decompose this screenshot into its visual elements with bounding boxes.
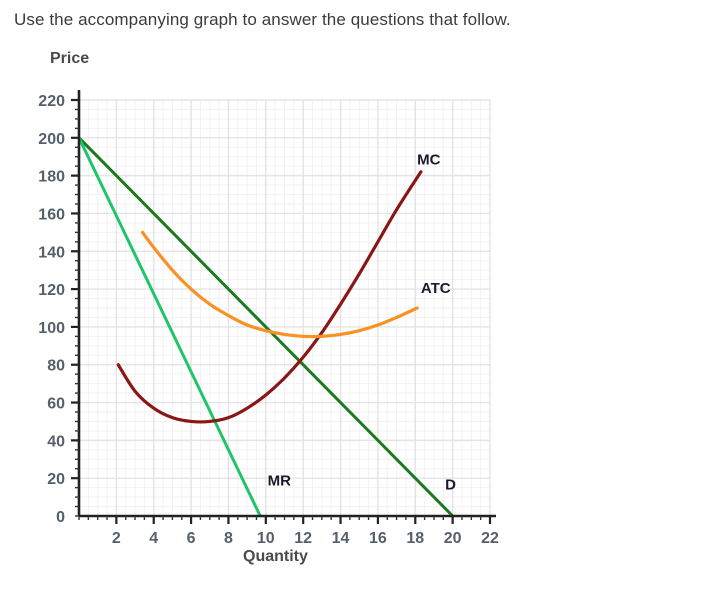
x-tick-label: 22 [481, 530, 499, 547]
y-tick-label: 80 [47, 358, 65, 375]
x-tick-label: 8 [224, 530, 233, 547]
plot-area: 2468101214161820220204060801001201401601… [0, 38, 724, 558]
y-tick-label: 180 [38, 169, 65, 186]
series-label-mr: MR [268, 473, 291, 490]
y-tick-label: 40 [47, 433, 65, 450]
economics-graph-figure: Price 2468101214161820220204060801001201… [0, 38, 724, 601]
x-tick-label: 20 [444, 530, 462, 547]
x-tick-label: 4 [149, 530, 158, 547]
x-axis-title: Quantity [243, 548, 308, 566]
y-tick-label: 60 [47, 396, 65, 413]
x-tick-label: 14 [332, 530, 350, 547]
x-tick-label: 18 [406, 530, 424, 547]
y-tick-label: 160 [38, 206, 65, 223]
series-mc-curve [118, 172, 421, 422]
series-labels: DMRMCATC [268, 151, 456, 493]
y-tick-label: 100 [38, 320, 65, 337]
y-tick-label: 200 [38, 131, 65, 148]
x-tick-label: 6 [187, 530, 196, 547]
series-label-d: D [445, 477, 456, 494]
y-tick-label: 0 [56, 509, 65, 526]
x-tick-label: 10 [257, 530, 275, 547]
question-prompt: Use the accompanying graph to answer the… [14, 10, 511, 30]
x-tick-label: 16 [369, 530, 387, 547]
series-label-mc: MC [417, 151, 440, 168]
x-tick-label: 12 [294, 530, 312, 547]
y-tick-label: 120 [38, 282, 65, 299]
series-label-atc: ATC [421, 280, 451, 297]
y-tick-label: 220 [38, 93, 65, 110]
y-tick-label: 140 [38, 244, 65, 261]
y-tick-label: 20 [47, 471, 65, 488]
x-tick-label: 2 [112, 530, 121, 547]
